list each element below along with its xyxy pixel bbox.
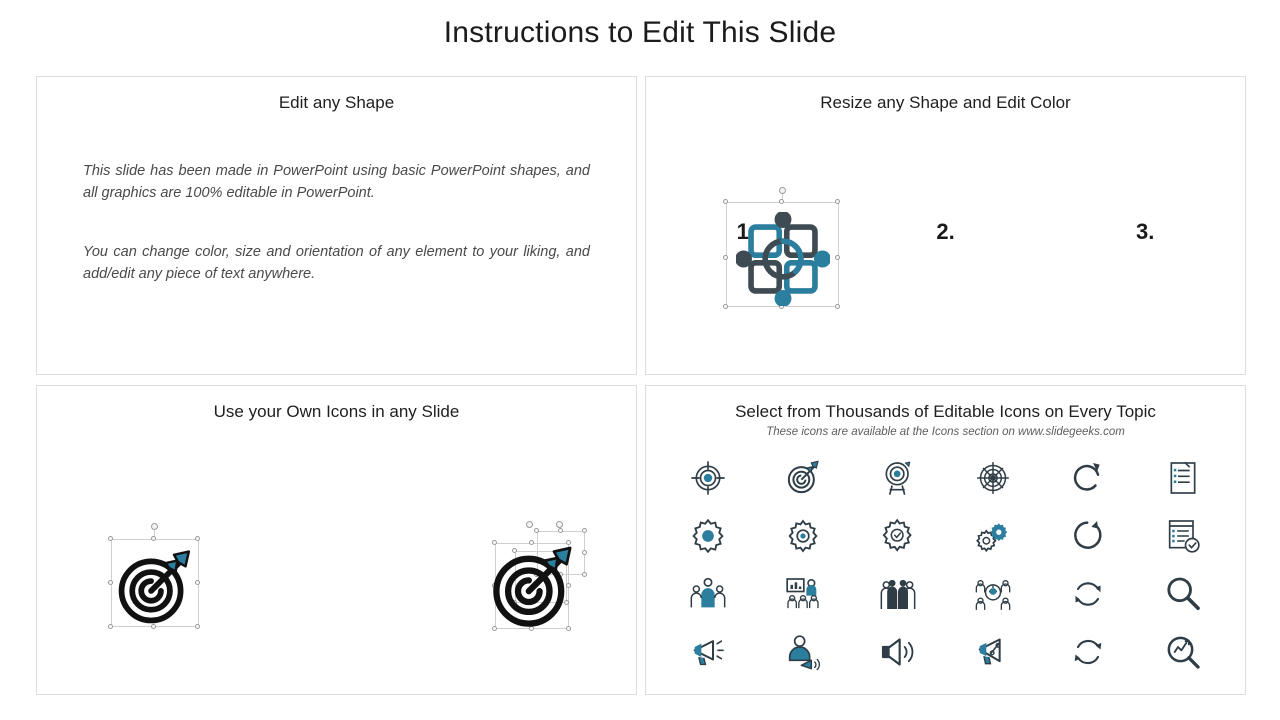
handle-n[interactable] xyxy=(151,536,156,541)
edit-shape-paragraph-1: This slide has been made in PowerPoint u… xyxy=(83,160,590,205)
gear-filled-icon[interactable] xyxy=(688,516,728,556)
step-number: 3. xyxy=(1136,219,1154,245)
quad-target-shape-icon xyxy=(736,212,830,306)
crosshair-target-icon[interactable] xyxy=(688,458,728,498)
speaker-loud-icon[interactable] xyxy=(878,632,918,672)
rotation-handle[interactable] xyxy=(526,521,533,528)
presentation-team-icon[interactable] xyxy=(783,574,823,614)
panel-title-icon-library: Select from Thousands of Editable Icons … xyxy=(646,402,1245,422)
target-stand-icon[interactable] xyxy=(878,458,918,498)
checklist-approved-icon[interactable] xyxy=(1163,516,1203,556)
handle[interactable] xyxy=(534,528,539,533)
sync-arrows-icon[interactable] xyxy=(1068,574,1108,614)
handle[interactable] xyxy=(582,572,587,577)
dartboard-arrow-icon[interactable] xyxy=(783,458,823,498)
megaphone-announce-icon[interactable] xyxy=(688,632,728,672)
handle-nw[interactable] xyxy=(108,536,113,541)
refresh-cycle-icon[interactable] xyxy=(1068,632,1108,672)
gear-center-icon[interactable] xyxy=(783,516,823,556)
gear-check-icon[interactable] xyxy=(878,516,918,556)
page-title: Instructions to Edit This Slide xyxy=(0,16,1280,50)
handle-ne[interactable] xyxy=(195,536,200,541)
edit-shape-body: This slide has been made in PowerPoint u… xyxy=(37,160,636,286)
circular-arrow-icon[interactable] xyxy=(1068,516,1108,556)
handle-n[interactable] xyxy=(779,199,784,204)
step-3-color-picker: 3. xyxy=(1045,219,1245,245)
checklist-document-icon[interactable] xyxy=(1163,458,1203,498)
handle-se[interactable] xyxy=(835,304,840,309)
selected-shape-preview[interactable] xyxy=(720,188,845,313)
radar-target-icon[interactable] xyxy=(973,458,1013,498)
handle[interactable] xyxy=(582,550,587,555)
handle-sw[interactable] xyxy=(108,624,113,629)
handle-ne[interactable] xyxy=(835,199,840,204)
handle-nw[interactable] xyxy=(723,199,728,204)
rotation-handle[interactable] xyxy=(779,187,786,194)
edit-shape-paragraph-2: You can change color, size and orientati… xyxy=(83,241,590,286)
team-meeting-icon[interactable] xyxy=(973,574,1013,614)
panel-resize-shape: Resize any Shape and Edit Color 1. 2. 3. xyxy=(645,76,1246,375)
magnifier-icon[interactable] xyxy=(1163,574,1203,614)
megaphone-percent-icon[interactable] xyxy=(973,632,1013,672)
handle[interactable] xyxy=(558,528,563,533)
slide-canvas: Instructions to Edit This Slide Edit any… xyxy=(0,0,1280,720)
panel-own-icons: Use your Own Icons in any Slide 1. 2. 3. xyxy=(36,385,637,695)
double-gear-icon[interactable] xyxy=(973,516,1013,556)
dartboard-arrow-icon xyxy=(491,539,581,629)
person-megaphone-icon[interactable] xyxy=(783,632,823,672)
magnifier-chart-icon[interactable] xyxy=(1163,632,1203,672)
team-leader-icon[interactable] xyxy=(688,574,728,614)
dartboard-arrow-icon xyxy=(115,545,197,627)
panel-title-resize-shape: Resize any Shape and Edit Color xyxy=(646,93,1245,113)
handle-w[interactable] xyxy=(723,255,728,260)
step-number: 2. xyxy=(936,219,954,245)
handle-sw[interactable] xyxy=(723,304,728,309)
rotation-handle[interactable] xyxy=(556,521,563,528)
handle-e[interactable] xyxy=(835,255,840,260)
panel-title-edit-shape: Edit any Shape xyxy=(37,93,636,113)
group-people-icon[interactable] xyxy=(878,574,918,614)
grouped-target-preview[interactable] xyxy=(105,523,205,631)
refresh-clockwise-icon[interactable] xyxy=(1068,458,1108,498)
handle[interactable] xyxy=(582,528,587,533)
panel-subtitle-icon-library: These icons are available at the Icons s… xyxy=(646,426,1245,438)
handle-w[interactable] xyxy=(108,580,113,585)
panel-edit-any-shape: Edit any Shape This slide has been made … xyxy=(36,76,637,375)
icon-library-grid xyxy=(660,458,1230,672)
ungrouped-target-preview[interactable] xyxy=(477,521,597,636)
panel-title-own-icons: Use your Own Icons in any Slide xyxy=(37,402,636,422)
step-2-context-menu: 2. xyxy=(846,219,1046,245)
rotation-handle[interactable] xyxy=(151,523,158,530)
